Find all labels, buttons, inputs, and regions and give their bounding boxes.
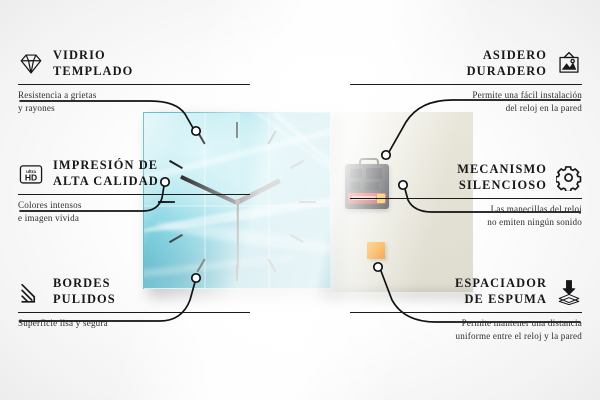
feature-bordes-pulidos: BORDES PULIDOS Superficie lisa y segura [18,276,250,330]
polished-edges-icon [18,279,44,305]
feature-description: Las manecillas del reloj no emiten ningú… [350,203,582,229]
feature-title: ASIDERO DURADERO [467,48,547,80]
feature-rule [18,84,250,85]
feature-asidero-duradero: ASIDERO DURADERO Permite una fácil insta… [350,48,582,115]
feature-header: ASIDERO DURADERO [350,48,582,80]
feature-header: ultra HD IMPRESIÓN DE ALTA CALIDAD [18,158,250,190]
feature-desc-line2: uniforme entre el reloj y la pared [350,330,582,343]
hanging-frame-icon [556,51,582,77]
feature-title-line2: ALTA CALIDAD [53,174,159,190]
feature-desc-line2: no emiten ningún sonido [350,216,582,229]
feature-desc-line2: y rayones [18,102,250,115]
feature-rule [18,312,250,313]
diamond-icon [18,51,44,77]
feature-title-line2: PULIDOS [53,292,116,308]
feature-title-line1: VIDRIO [53,48,133,64]
feature-desc-line1: Resistencia a grietas [18,89,250,102]
feature-espaciador-de-espuma: ESPACIADOR DE ESPUMA Permite mantener un… [350,276,582,343]
feature-desc-line1: Superficie lisa y segura [18,317,250,330]
feature-header: MECANISMO SILENCIOSO [350,162,582,194]
feature-title-line1: ESPACIADOR [455,276,547,292]
feature-desc-line2: e imagen vívida [18,212,250,225]
feature-desc-line2: del reloj en la pared [350,102,582,115]
feature-rule [350,312,582,313]
feature-rule [350,84,582,85]
feature-title-line2: DE ESPUMA [455,292,547,308]
feature-title-line1: IMPRESIÓN DE [53,158,159,174]
feature-desc-line1: Las manecillas del reloj [350,203,582,216]
feature-description: Permite mantener una distancia uniforme … [350,317,582,343]
foam-spacer [367,242,385,259]
feature-title-line1: BORDES [53,276,116,292]
feature-header: ESPACIADOR DE ESPUMA [350,276,582,308]
feature-title: VIDRIO TEMPLADO [53,48,133,80]
feature-title-line2: TEMPLADO [53,64,133,80]
feature-desc-line1: Permite una fácil instalación [350,89,582,102]
feature-mecanismo-silencioso: MECANISMO SILENCIOSO Las manecillas del … [350,162,582,229]
feature-description: Superficie lisa y segura [18,317,250,330]
feature-title-line2: DURADERO [467,64,547,80]
feature-header: BORDES PULIDOS [18,276,250,308]
feature-title: ESPACIADOR DE ESPUMA [455,276,547,308]
ultra-hd-icon: ultra HD [18,161,44,187]
feature-title: IMPRESIÓN DE ALTA CALIDAD [53,158,159,190]
feature-title-line1: ASIDERO [467,48,547,64]
infographic-canvas: VIDRIO TEMPLADO Resistencia a grietas y … [0,0,600,400]
gear-icon [556,165,582,191]
feature-description: Permite una fácil instalación del reloj … [350,89,582,115]
feature-title: MECANISMO SILENCIOSO [457,162,547,194]
feature-vidrio-templado: VIDRIO TEMPLADO Resistencia a grietas y … [18,48,250,115]
feature-title-line2: SILENCIOSO [457,178,547,194]
ultra-hd-icon-main-text: HD [25,172,37,182]
feature-title-line1: MECANISMO [457,162,547,178]
feature-description: Resistencia a grietas y rayones [18,89,250,115]
clock-tick-2 [290,160,304,169]
feature-rule [350,198,582,199]
feature-title: BORDES PULIDOS [53,276,116,308]
feature-desc-line1: Permite mantener una distancia [350,317,582,330]
feature-header: VIDRIO TEMPLADO [18,48,250,80]
feature-description: Colores intensos e imagen vívida [18,199,250,225]
foam-spacer-icon [556,279,582,305]
clock-tick-3 [299,201,316,203]
clock-tick-12 [236,122,238,138]
feature-desc-line1: Colores intensos [18,199,250,212]
feature-impresion-alta-calidad: ultra HD IMPRESIÓN DE ALTA CALIDAD Color… [18,158,250,225]
feature-rule [18,194,250,195]
